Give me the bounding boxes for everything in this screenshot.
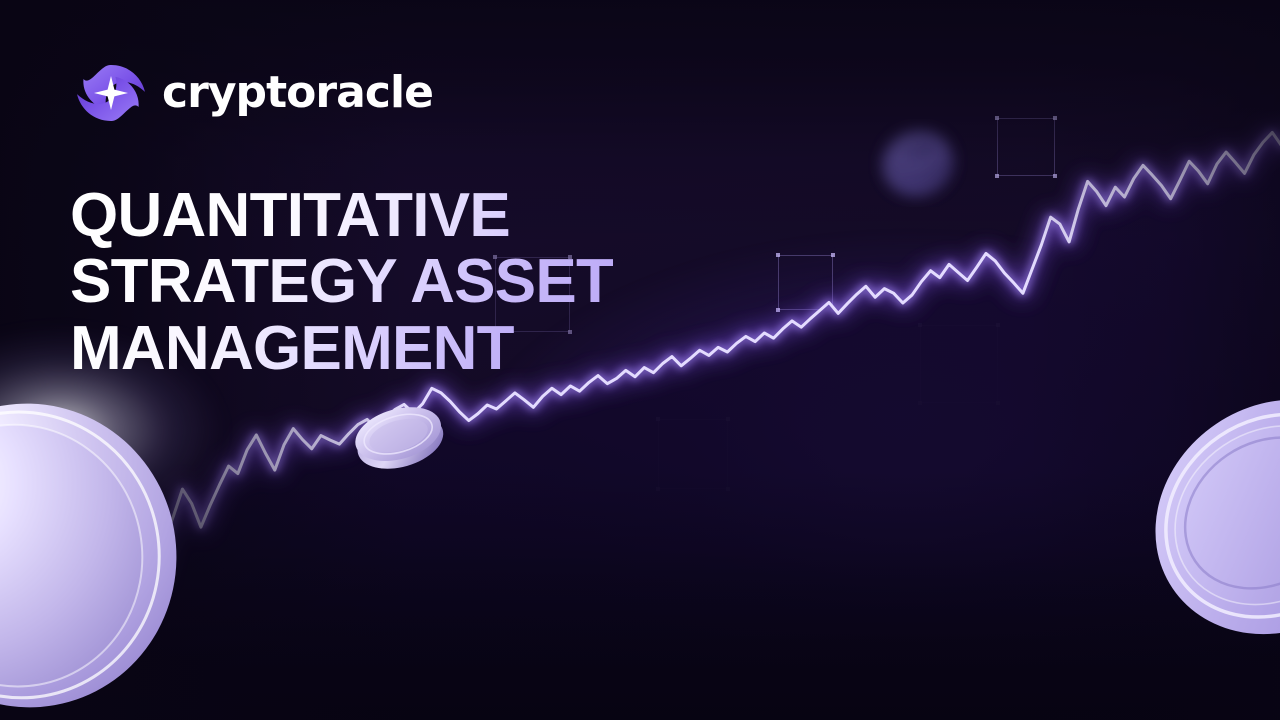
headline-line-2: STRATEGY ASSET [70,249,613,315]
brand-logo[interactable]: cryptoracle [74,58,433,128]
coin-right-edge [1152,386,1280,636]
coin-small-mid [345,398,453,476]
brand-wordmark: cryptoracle [162,71,433,115]
page-title: QUANTITATIVE STRATEGY ASSET MANAGEMENT [70,183,613,382]
coin-large-left [0,396,188,708]
headline-line-1: QUANTITATIVE [70,183,613,249]
hero-banner: cryptoracle QUANTITATIVE STRATEGY ASSET … [0,0,1280,720]
headline-line-3: MANAGEMENT [70,316,613,382]
eye-sparkle-logo-icon [74,58,148,128]
